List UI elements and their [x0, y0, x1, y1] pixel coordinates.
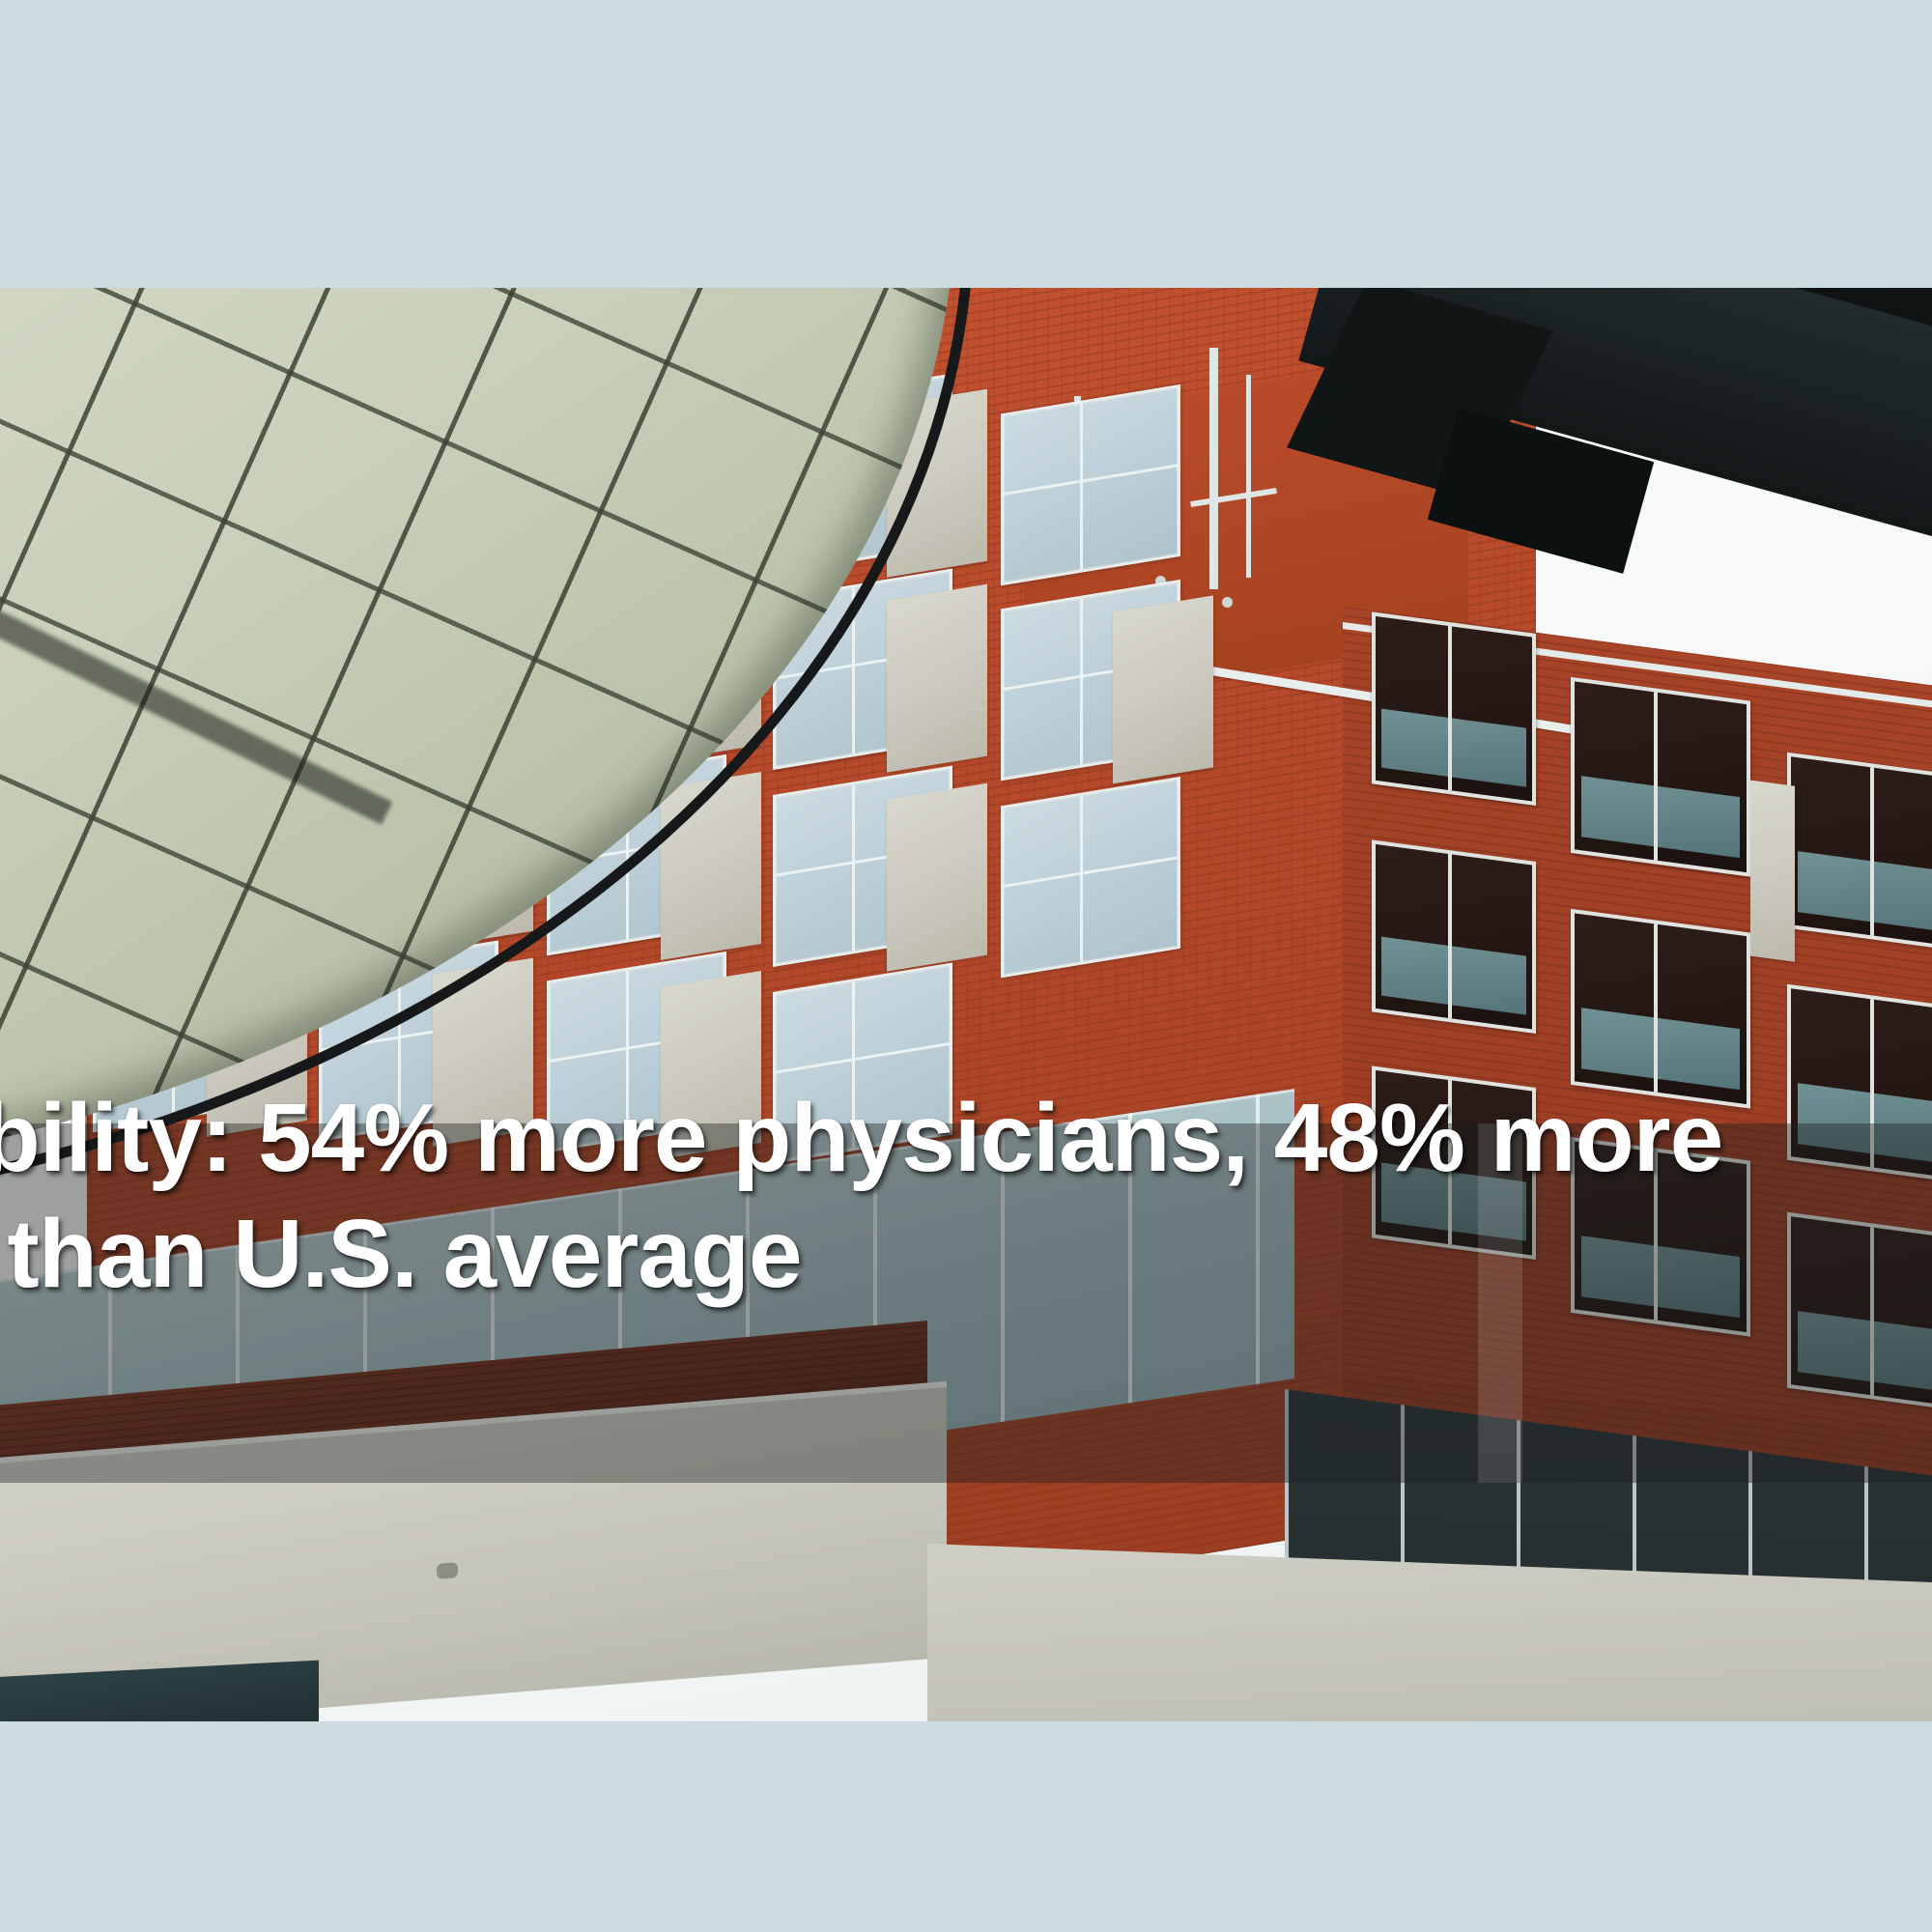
wall-light-fixture-icon [437, 1562, 458, 1579]
stone-accent-panel [1750, 781, 1795, 962]
caption-text: ability: 54% more physicians, 48% more a… [0, 1080, 1932, 1312]
caption-line-1: ability: 54% more physicians, 48% more [0, 1080, 1932, 1196]
window-pane [1001, 384, 1180, 585]
recessed-window [1571, 909, 1750, 1109]
recessed-window [1787, 753, 1932, 952]
recessed-window [1571, 677, 1750, 877]
caption-line-2: a than U.S. average [0, 1196, 1932, 1312]
slide-stage: ability: 54% more physicians, 48% more a… [0, 0, 1932, 1932]
recessed-window [1372, 839, 1536, 1034]
stone-accent-panel [661, 772, 761, 960]
hospital-building-photo [0, 288, 1932, 1721]
recessed-window [1372, 611, 1536, 806]
window-pane [1001, 777, 1180, 978]
stone-accent-panel [1113, 595, 1213, 783]
stone-accent-panel [887, 584, 987, 773]
stone-accent-panel [887, 783, 987, 972]
